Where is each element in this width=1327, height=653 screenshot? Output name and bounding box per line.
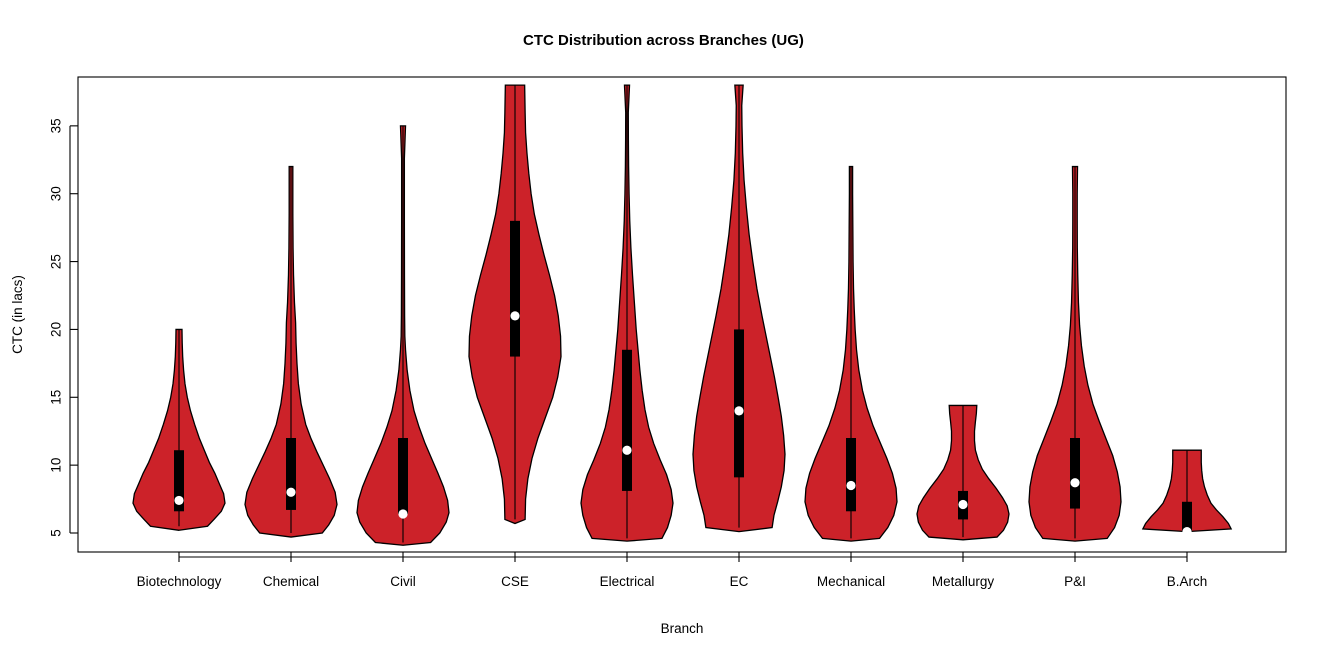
violin-plot-figure: CTC Distribution across Branches (UG) CT… <box>0 0 1327 653</box>
y-axis-title: CTC (in lacs) <box>10 275 25 354</box>
violin-median-marker <box>174 496 183 505</box>
violin-iqr-box <box>1070 438 1080 509</box>
x-axis-tick-label-electrical: Electrical <box>600 574 655 589</box>
figure-background <box>0 0 1327 653</box>
y-axis-tick-label: 20 <box>49 322 64 337</box>
chart-title: CTC Distribution across Branches (UG) <box>523 32 804 49</box>
violin-median-marker <box>1070 478 1079 487</box>
violin-median-marker <box>958 500 967 509</box>
violin-median-marker <box>846 481 855 490</box>
y-axis-tick-label: 10 <box>49 458 64 473</box>
violin-median-marker <box>398 509 407 518</box>
violin-median-marker <box>622 446 631 455</box>
y-axis-tick-label: 30 <box>49 186 64 201</box>
y-axis-tick-label: 35 <box>49 118 64 133</box>
violin-median-marker <box>1182 527 1191 536</box>
x-axis-tick-label-b-arch: B.Arch <box>1167 574 1208 589</box>
x-axis-tick-label-ec: EC <box>730 574 749 589</box>
violin-iqr-box <box>286 438 296 510</box>
x-axis-tick-label-cse: CSE <box>501 574 529 589</box>
x-axis-tick-label-chemical: Chemical <box>263 574 319 589</box>
violin-iqr-box <box>734 329 744 477</box>
violin-median-marker <box>510 311 519 320</box>
x-axis-tick-label-civil: Civil <box>390 574 416 589</box>
chart-canvas: CTC Distribution across Branches (UG) CT… <box>0 0 1327 653</box>
violin-iqr-box <box>510 221 520 357</box>
y-axis-tick-label: 5 <box>49 529 64 537</box>
violin-iqr-box <box>846 438 856 511</box>
x-axis-title: Branch <box>661 621 704 636</box>
violin-iqr-box <box>622 350 632 491</box>
violin-iqr-box <box>398 438 408 514</box>
y-axis-tick-label: 15 <box>49 390 64 405</box>
violin-median-marker <box>734 406 743 415</box>
x-axis-tick-label-p-i: P&I <box>1064 574 1086 589</box>
x-axis-tick-label-mechanical: Mechanical <box>817 574 885 589</box>
x-axis-tick-label-metallurgy: Metallurgy <box>932 574 995 589</box>
violin-median-marker <box>286 488 295 497</box>
y-axis-tick-label: 25 <box>49 254 64 269</box>
x-axis-tick-label-biotechnology: Biotechnology <box>137 574 222 589</box>
